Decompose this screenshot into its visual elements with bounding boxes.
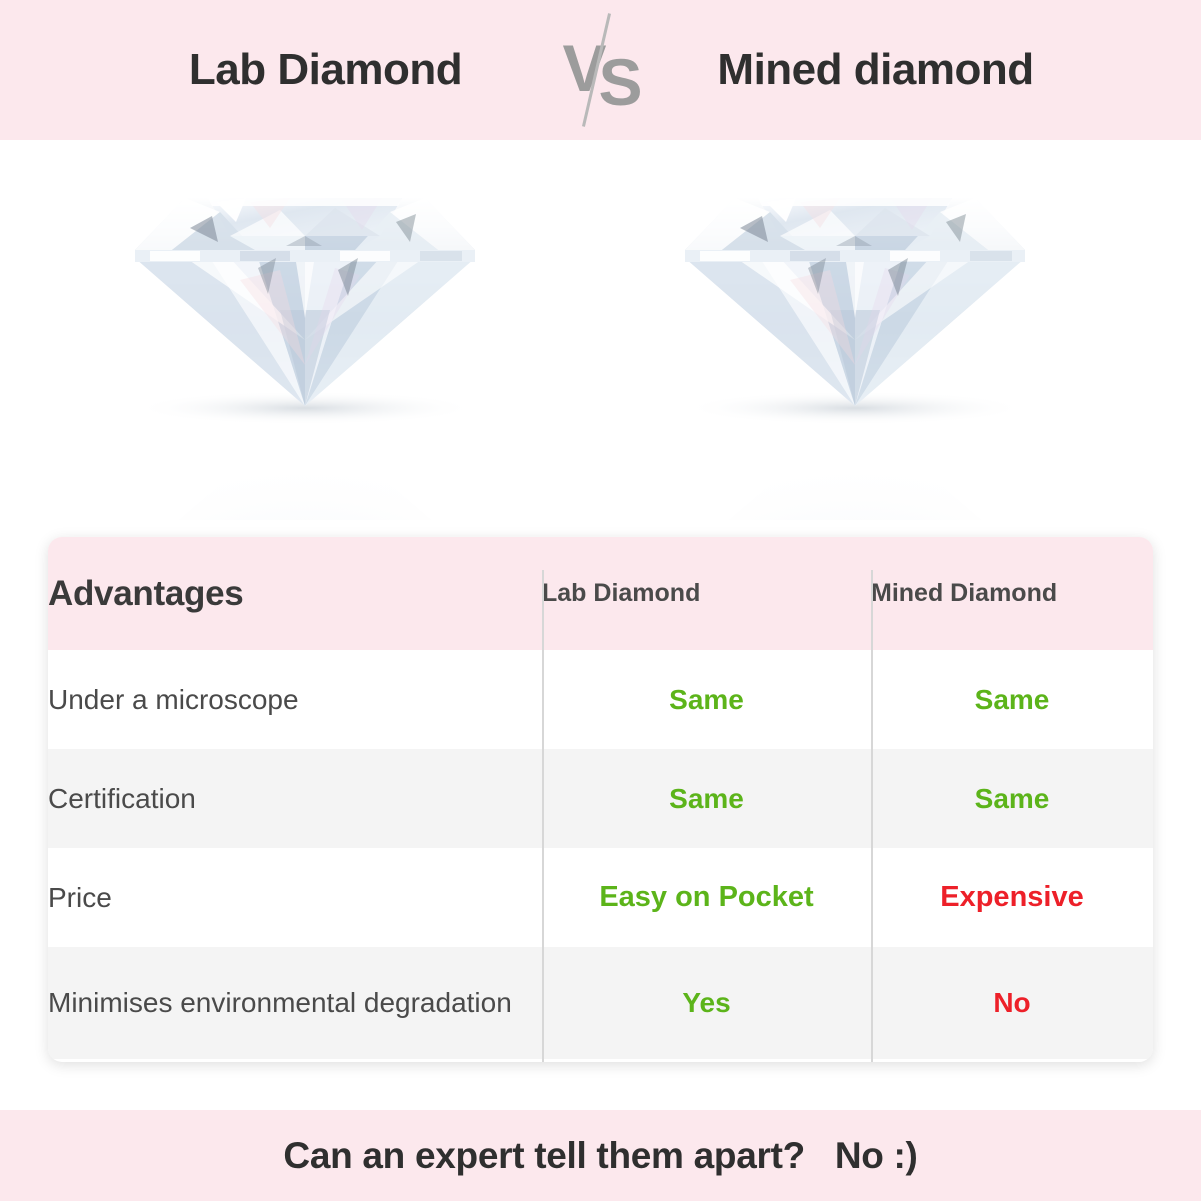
row-value-lab-minimises-environmental-degradation: Yes (542, 947, 871, 1059)
row-value-mined-minimises-environmental-degradation: No (871, 947, 1153, 1059)
table-header: Advantages Lab Diamond Mined Diamond (48, 537, 1153, 650)
header-title-lab-diamond: Lab Diamond (111, 45, 541, 95)
row-value-mined-under-a-microscope: Same (871, 650, 1153, 749)
row-label-under-a-microscope: Under a microscope (48, 650, 542, 749)
table-header-row: Advantages Lab Diamond Mined Diamond (48, 537, 1153, 650)
row-value-lab-under-a-microscope: Same (542, 650, 871, 749)
mined-diamond-image (640, 150, 1070, 520)
bottom-banner: Can an expert tell them apart? No :) (0, 1110, 1201, 1201)
versus-letter-s: S (599, 45, 637, 119)
mined-diamond-photo (640, 150, 1070, 520)
row-label-price: Price (48, 848, 542, 947)
table-row: Under a microscope Same Same (48, 650, 1153, 749)
lab-diamond-image (90, 150, 520, 520)
top-banner: Lab Diamond VS Mined diamond (0, 0, 1201, 140)
row-value-mined-certification: Same (871, 749, 1153, 848)
footer-question-answer: Can an expert tell them apart? No :) (283, 1135, 917, 1177)
header-title-mined-diamond: Mined diamond (661, 45, 1091, 95)
table-row: Certification Same Same (48, 749, 1153, 848)
row-value-lab-price: Easy on Pocket (542, 848, 871, 947)
table-row: Price Easy on Pocket Expensive (48, 848, 1153, 947)
versus-badge: VS (541, 0, 661, 140)
row-value-lab-certification: Same (542, 749, 871, 848)
row-label-minimises-environmental-degradation: Minimises environmental degradation (48, 947, 542, 1059)
column-header-advantages: Advantages (48, 537, 542, 650)
row-value-mined-price: Expensive (871, 848, 1153, 947)
column-header-lab-diamond: Lab Diamond (542, 537, 871, 650)
column-header-mined-diamond: Mined Diamond (871, 537, 1153, 650)
comparison-table: Advantages Lab Diamond Mined Diamond Und… (48, 537, 1153, 1059)
diamond-gallery (0, 140, 1201, 530)
comparison-table-card: Advantages Lab Diamond Mined Diamond Und… (48, 537, 1153, 1062)
table-body: Under a microscope Same Same Certificati… (48, 650, 1153, 1059)
lab-diamond-photo (90, 150, 520, 520)
table-row: Minimises environmental degradation Yes … (48, 947, 1153, 1059)
row-label-certification: Certification (48, 749, 542, 848)
